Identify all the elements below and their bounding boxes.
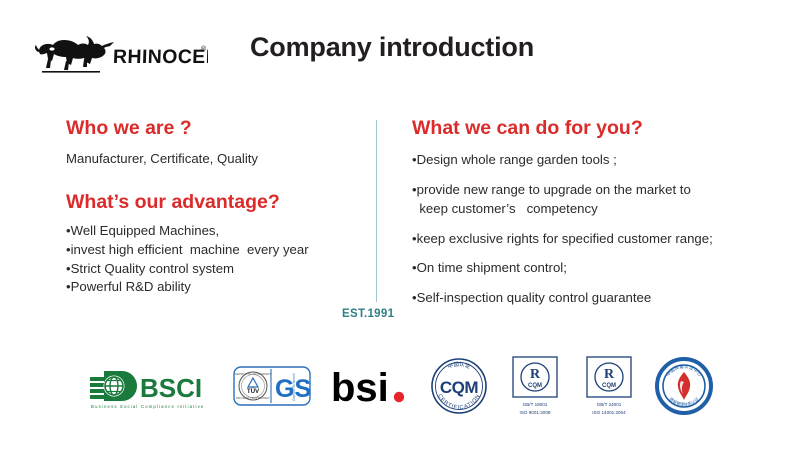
advantage-bullet-list: •Well Equipped Machines, •invest high ef… [66, 222, 366, 297]
cert-caption-line1: GB/T 24001 [597, 402, 622, 407]
cert-logo-r-cqm-14001: R CQM GB/T 24001 ISO 14001:2004 [581, 355, 637, 417]
cert-logo-cqm: CQM 中国认证 CERTIFICATION [429, 357, 489, 415]
list-item: •Design whole range garden tools ; [412, 151, 792, 170]
certification-logo-strip: BSCI Business Social Compliance Initiati… [0, 348, 800, 424]
list-item: •Strict Quality control system [66, 260, 366, 279]
svg-text:CQM: CQM [602, 383, 616, 389]
flame-seal-icon: 中国质量认证中心 质量管理体系认证 [657, 359, 711, 413]
r-cqm-mark-icon: R CQM [513, 357, 557, 397]
cert-caption-line2: ISO 14001:2004 [592, 410, 626, 415]
cert-logo-r-cqm-9001: R CQM GB/T 19001 ISO 9001:2008 [507, 355, 563, 417]
cert-logo-tuv-gs: TÜV GEPRÜFTE SICHERHEIT PRODUKTSICHERHEI… [233, 363, 311, 409]
svg-text:R: R [530, 367, 541, 382]
page-title: Company introduction [250, 32, 534, 63]
list-item: •invest high efficient machine every yea… [66, 241, 366, 260]
rhinoceros-logo: RHINOCEROS ® [26, 28, 208, 76]
bsi-logo-icon: bsi [331, 366, 404, 409]
svg-text:GEPRÜFTE SICHERHEIT: GEPRÜFTE SICHERHEIT [235, 372, 272, 376]
list-item: •provide new range to upgrade on the mar… [412, 181, 792, 218]
bsci-tagline: Business Social Compliance Initiative [91, 404, 204, 409]
heading-what-we-can-do: What we can do for you? [412, 118, 792, 139]
list-item: •On time shipment control; [412, 259, 792, 278]
established-label: EST.1991 [342, 308, 394, 320]
list-item: •keep exclusive rights for specified cus… [412, 230, 792, 249]
left-column: Who we are ? Manufacturer, Certificate, … [66, 118, 366, 297]
cert-caption-line1: GB/T 19001 [523, 402, 548, 407]
cert-logo-bsci: BSCI Business Social Compliance Initiati… [87, 361, 215, 411]
right-column: What we can do for you? •Design whole ra… [412, 118, 792, 319]
services-bullet-list: •Design whole range garden tools ; •prov… [412, 151, 792, 307]
tuv-gs-logo-icon: TÜV GEPRÜFTE SICHERHEIT PRODUKTSICHERHEI… [234, 367, 311, 405]
svg-text:中国认证: 中国认证 [446, 360, 472, 371]
slide-root: RHINOCEROS ® Company introduction Who we… [0, 0, 800, 449]
cert-logo-bsi: bsi [329, 363, 411, 409]
svg-text:®: ® [201, 45, 207, 53]
list-item: •Powerful R&D ability [66, 278, 366, 297]
r-cqm-mark-icon: R CQM [587, 357, 631, 397]
svg-text:Geprüfte Sicherheit: Geprüfte Sicherheit [292, 373, 296, 401]
rhinoceros-wordmark: RHINOCEROS ® [113, 45, 208, 68]
bsi-red-dot [394, 392, 404, 402]
svg-text:PRODUKTSICHERHEIT: PRODUKTSICHERHEIT [236, 396, 270, 400]
svg-text:TÜV: TÜV [247, 388, 260, 395]
bsi-wordmark: bsi [331, 366, 389, 409]
heading-who-we-are: Who we are ? [66, 118, 366, 139]
svg-text:CQM: CQM [528, 383, 542, 389]
list-item: •Well Equipped Machines, [66, 222, 366, 241]
heading-our-advantage: What’s our advantage? [66, 192, 366, 213]
who-we-are-text: Manufacturer, Certificate, Quality [66, 150, 366, 167]
bsci-logo-icon [90, 371, 137, 401]
svg-text:RHINOCEROS: RHINOCEROS [113, 46, 208, 68]
bsci-wordmark: BSCI [140, 373, 202, 403]
list-item: •Self-inspection quality control guarant… [412, 289, 792, 308]
cert-logo-flame-seal: 中国质量认证中心 质量管理体系认证 [655, 357, 713, 415]
slide-header: RHINOCEROS ® Company introduction [0, 0, 800, 96]
cqm-seal-icon: CQM 中国认证 CERTIFICATION [432, 359, 486, 413]
column-divider [376, 120, 377, 302]
svg-text:CQM: CQM [440, 378, 479, 397]
rhinoceros-icon [35, 36, 114, 73]
cert-caption-line2: ISO 9001:2008 [520, 410, 551, 415]
svg-text:R: R [604, 367, 615, 382]
